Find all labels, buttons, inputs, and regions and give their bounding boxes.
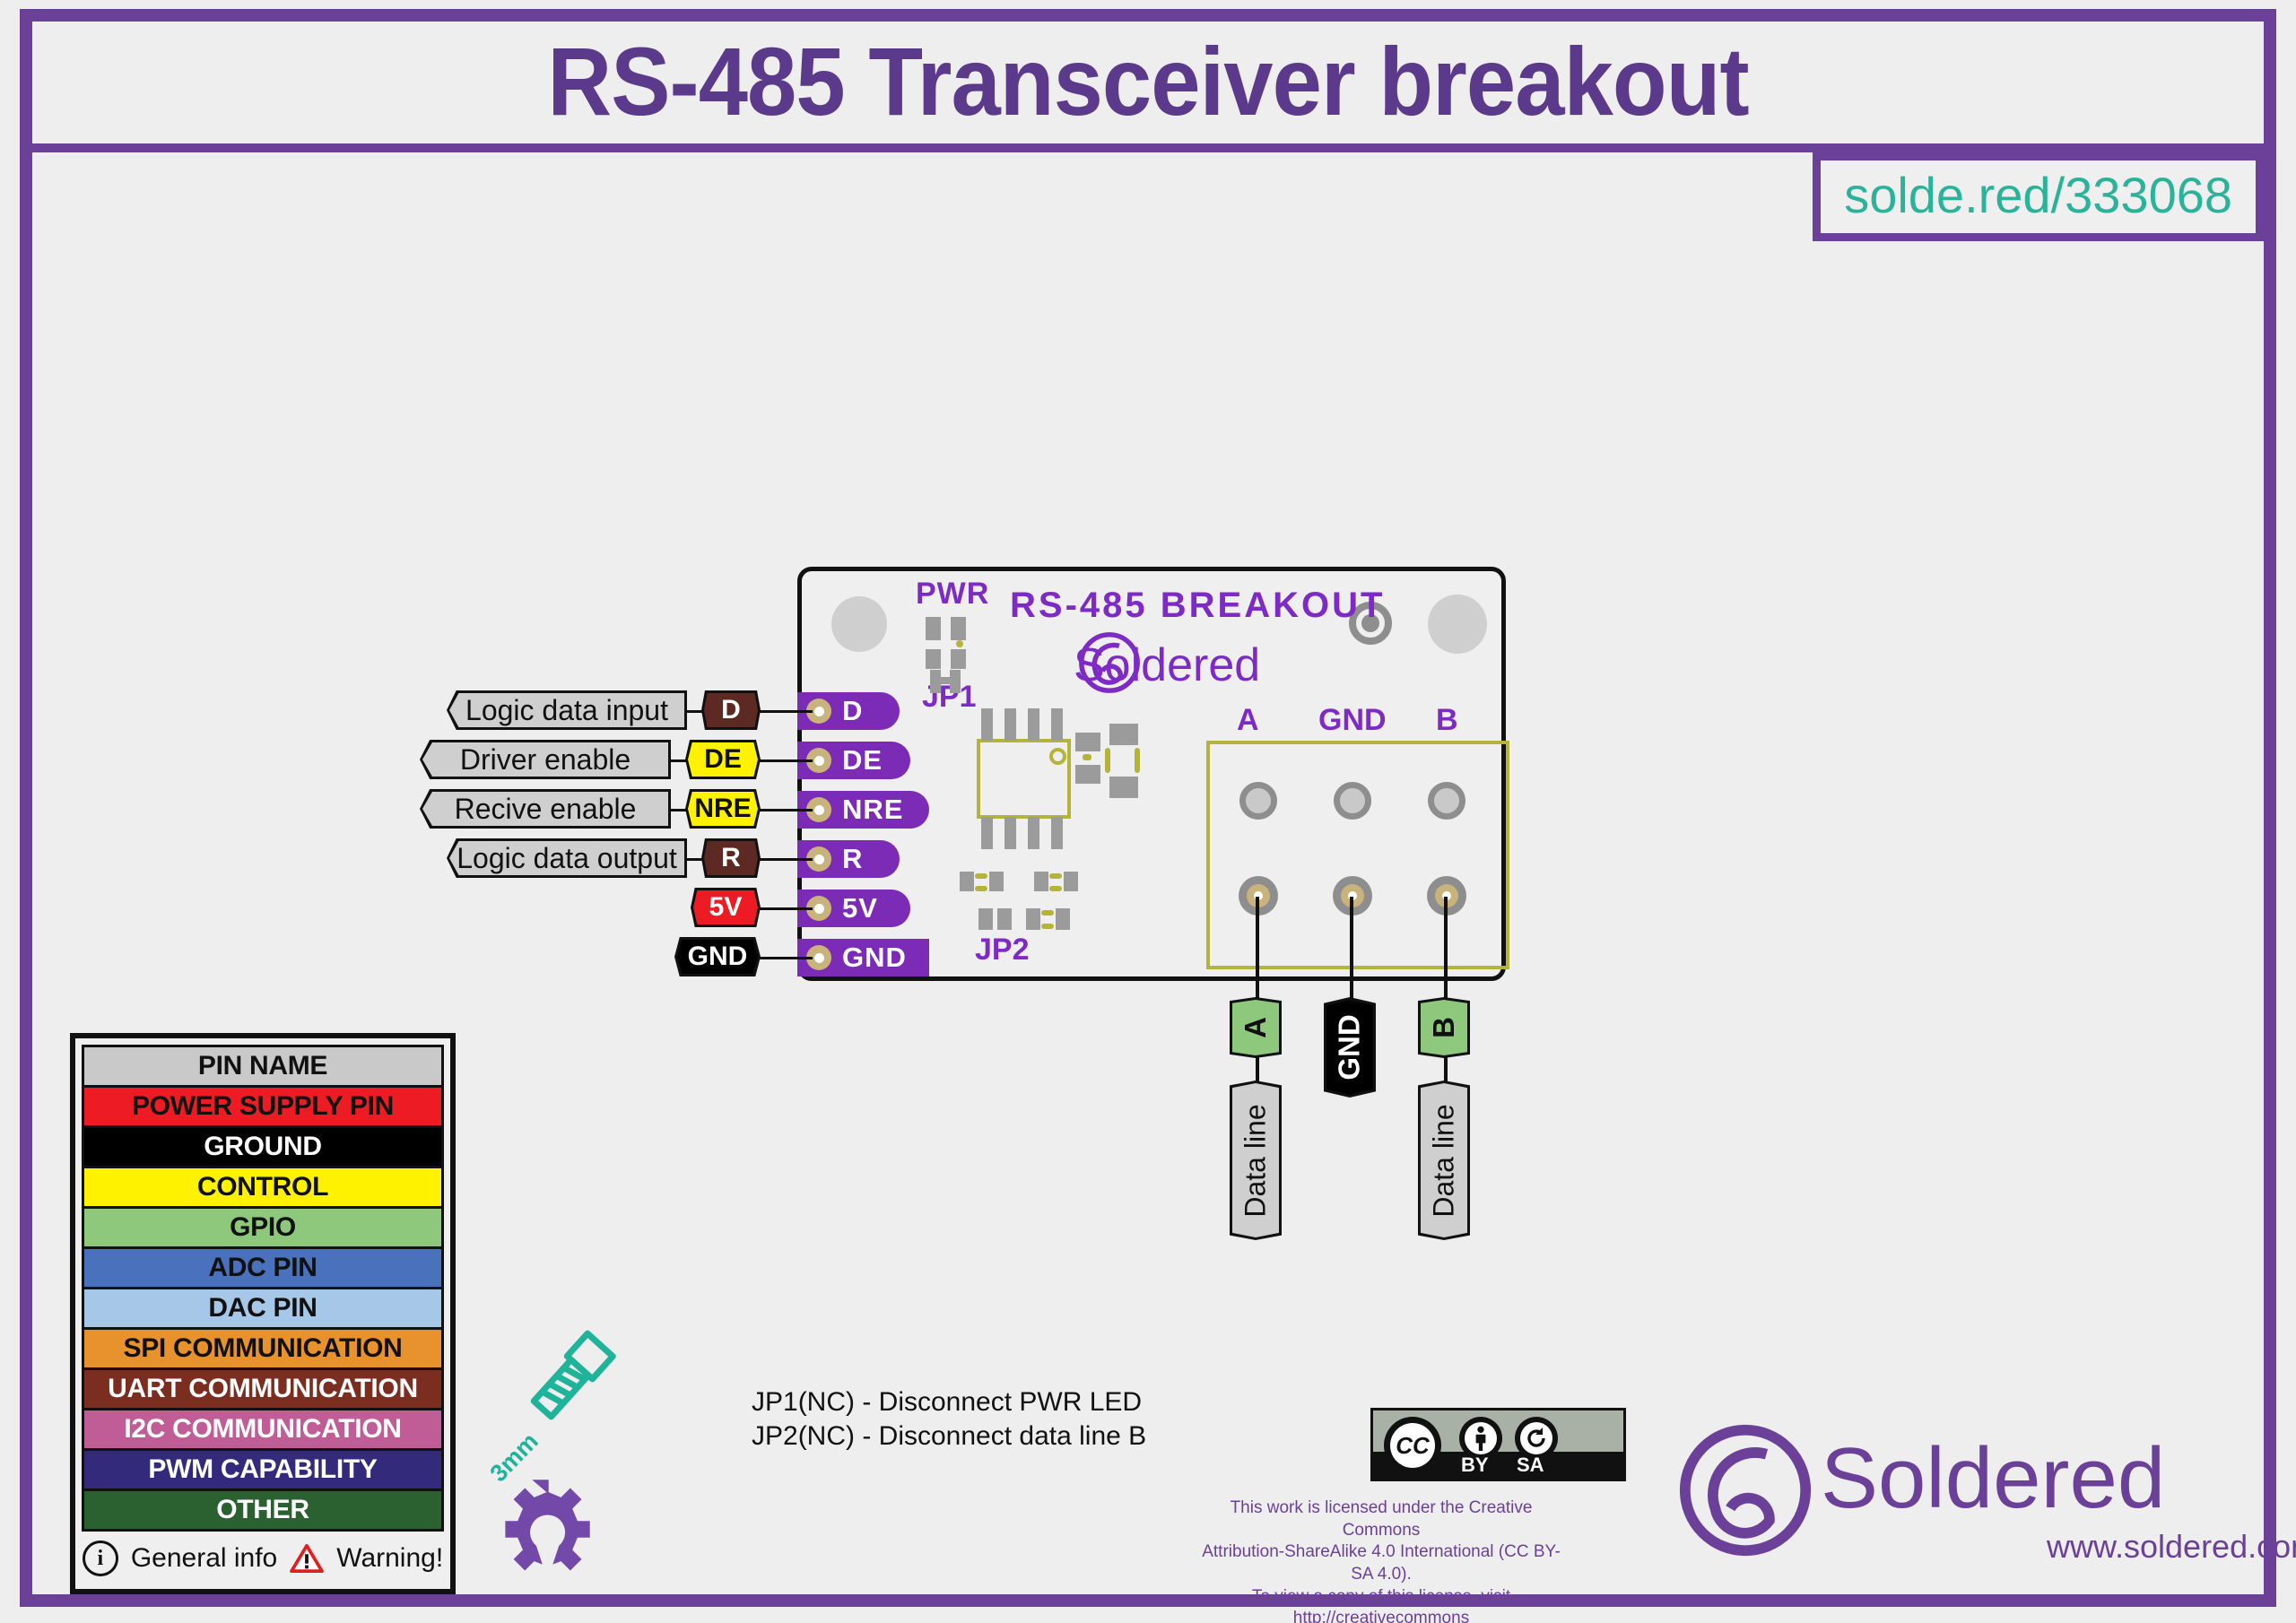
jp2-pad-left (978, 908, 993, 930)
legend-row: PIN NAME (82, 1045, 444, 1088)
vlead-b (1444, 897, 1448, 1002)
legend-label: DAC PIN (208, 1293, 317, 1324)
mounting-hole-right (1428, 595, 1487, 654)
legend-warning-label: Warning! (336, 1543, 443, 1574)
callout-tag-r: R (701, 838, 761, 878)
legend-label: ADC PIN (208, 1253, 317, 1283)
legend-row: UART COMMUNICATION (82, 1367, 444, 1410)
bottom-callout-tag-gnd: GND (1324, 997, 1376, 1098)
pin-label-5v: 5V (842, 892, 878, 924)
smd-pad-a2 (1075, 765, 1100, 784)
legend-label: UART COMMUNICATION (108, 1374, 418, 1404)
cc-icon: CC (1384, 1417, 1441, 1474)
callout-tag-gnd: GND (674, 937, 761, 976)
jp2-smd-2a (1034, 872, 1048, 891)
jp2-link-3b (1041, 924, 1054, 929)
legend-row: SPI COMMUNICATION (82, 1327, 444, 1370)
jp2-link-2a (1049, 873, 1062, 879)
pwr-pad-4 (951, 649, 966, 669)
bottom-callout-desc-a: Data line (1230, 1081, 1282, 1240)
silk-board-name: RS-485 BREAKOUT (1010, 586, 1385, 626)
legend-row: I2C COMMUNICATION (82, 1408, 444, 1451)
callout-tag-d: D (701, 690, 761, 730)
pin-label-d: D (842, 695, 863, 727)
terminal-screw-gnd (1334, 782, 1371, 820)
pwr-pad-2 (951, 617, 966, 640)
jp2-smd-3a (1026, 908, 1040, 930)
legend-footer: i General info Warning! (82, 1534, 444, 1583)
callout-tag-text: 5V (709, 892, 743, 923)
legend-label: GPIO (230, 1212, 296, 1243)
pin-type-legend: PIN NAME POWER SUPPLY PIN GROUND CONTROL… (70, 1033, 456, 1594)
lead-nre (759, 809, 813, 811)
board-pin-nre: NRE (797, 791, 929, 829)
footer-brand: Soldered (1821, 1429, 2165, 1528)
legend-label: OTHER (216, 1495, 309, 1525)
smd-pad-a1 (1075, 733, 1100, 751)
jp1-bridge (938, 677, 952, 684)
legend-row: POWER SUPPLY PIN (82, 1085, 444, 1128)
bottom-callout-desc-text: Data line (1428, 1104, 1461, 1217)
ic-pin-top-2 (1004, 708, 1016, 741)
jp2-link-1b (975, 886, 987, 891)
lead-de (759, 759, 813, 762)
ic-pin1-marker (1049, 748, 1066, 765)
pwr-pad-3 (926, 649, 941, 669)
bottom-callout-desc-b: Data line (1418, 1081, 1470, 1240)
silk-terminal-gnd: GND (1318, 703, 1387, 738)
callout-tag-text: D (721, 695, 741, 725)
legend-row: DAC PIN (82, 1287, 444, 1330)
callout-tag-text: NRE (694, 794, 751, 824)
soldered-footer-logo-icon (1670, 1415, 1821, 1566)
ic-pin-bot-4 (1051, 817, 1063, 849)
silk-pwr-label: PWR (916, 577, 989, 612)
pwr-led-marker (956, 640, 963, 647)
silk-terminal-b: B (1436, 703, 1458, 738)
bottom-callout-tag-text: B (1427, 1017, 1461, 1038)
bottom-callout-tag-b: B (1418, 997, 1470, 1058)
legend-row: CONTROL (82, 1166, 444, 1209)
board-pin-d: D (797, 692, 900, 730)
ic-pin-bot-3 (1028, 817, 1039, 849)
cc-license-badge: CC BY SA (1370, 1408, 1626, 1481)
legend-label: GROUND (204, 1132, 322, 1162)
jp2-pad-right (997, 908, 1012, 930)
cc-sa-label: SA (1517, 1454, 1544, 1477)
terminal-screw-a (1239, 782, 1277, 820)
legend-label: CONTROL (197, 1172, 328, 1202)
jp2-smd-1b (989, 872, 1004, 891)
ic-pin-top-1 (981, 708, 993, 741)
board-pin-r: R (797, 840, 900, 878)
board-pin-5v: 5V (797, 890, 910, 927)
open-source-gear-icon (489, 1478, 592, 1581)
screw-terminal-outline (1206, 741, 1509, 969)
license-line-2: Attribution-ShareAlike 4.0 International… (1193, 1541, 1570, 1585)
legend-row: PWM CAPABILITY (82, 1448, 444, 1491)
footer-url[interactable]: www.soldered.com (2047, 1528, 2296, 1566)
callout-desc-logic-data-input: Logic data input (447, 690, 687, 730)
jp2-link-1a (975, 873, 987, 879)
license-line-3: To view a copy of this license, visit ht… (1193, 1586, 1570, 1623)
note-jp2: JP2(NC) - Disconnect data line B (752, 1419, 1146, 1454)
pwr-pad-1 (926, 617, 941, 640)
jp2-smd-1a (960, 872, 974, 891)
smd-link-b2 (1135, 748, 1140, 773)
lead-d (759, 710, 813, 713)
callout-desc-driver-enable: Driver enable (420, 740, 671, 779)
smd-link-a (1083, 754, 1091, 760)
silk-jp2-label: JP2 (975, 933, 1030, 968)
ic-pin-bot-2 (1004, 817, 1016, 849)
callout-desc-logic-data-output: Logic data output (447, 838, 687, 878)
callout-desc-text: Logic data output (457, 842, 677, 875)
legend-label: PIN NAME (198, 1051, 327, 1081)
legend-label: I2C COMMUNICATION (124, 1414, 401, 1445)
screw-icon (518, 1327, 617, 1435)
vlead-a (1256, 897, 1259, 1002)
board-pin-gnd: GND (797, 939, 929, 976)
callout-desc-recive-enable: Recive enable (420, 789, 671, 829)
pin-label-gnd: GND (842, 942, 907, 974)
title-divider (20, 143, 2276, 152)
info-icon: i (83, 1541, 118, 1576)
bottom-callout-desc-text: Data line (1239, 1104, 1273, 1217)
license-text: This work is licensed under the Creative… (1193, 1497, 1570, 1623)
callout-desc-text: Recive enable (455, 793, 637, 826)
license-line-1: This work is licensed under the Creative… (1193, 1497, 1570, 1541)
cc-by-label: BY (1461, 1454, 1489, 1477)
pinout-diagram-page: RS-485 Transceiver breakout solde.red/33… (0, 0, 2296, 1623)
callout-desc-text: Logic data input (465, 694, 668, 727)
callout-tag-text: GND (688, 942, 748, 972)
ic-pin-top-4 (1051, 708, 1063, 741)
legend-info-label: General info (131, 1543, 277, 1574)
board-pin-de: DE (797, 742, 910, 779)
callout-tag-de: DE (685, 740, 761, 779)
legend-label: PWM CAPABILITY (148, 1454, 377, 1485)
jp2-link-3a (1041, 910, 1054, 916)
lead-5v (759, 907, 813, 910)
product-url-badge[interactable]: solde.red/333068 (1813, 152, 2264, 241)
ic-pin-bot-1 (981, 817, 993, 849)
vlead-gnd (1350, 897, 1353, 1002)
smd-pad-b1 (1109, 724, 1138, 745)
silk-terminal-a: A (1237, 703, 1259, 738)
bottom-callout-tag-text: A (1239, 1017, 1273, 1038)
jp2-smd-3b (1056, 908, 1070, 930)
lead-r (759, 858, 813, 861)
legend-label: SPI COMMUNICATION (124, 1333, 403, 1364)
warning-icon (290, 1543, 324, 1574)
jp2-smd-2b (1064, 872, 1078, 891)
bottom-callout-tag-a: A (1230, 997, 1282, 1058)
pin-label-de: DE (842, 744, 883, 777)
pin-label-nre: NRE (842, 794, 903, 826)
ic-pin-top-3 (1028, 708, 1039, 741)
callout-desc-text: Driver enable (460, 743, 631, 777)
pin-label-r: R (842, 843, 863, 875)
jp2-link-2b (1049, 886, 1062, 891)
callout-tag-nre: NRE (685, 789, 761, 829)
bottom-callout-tag-text: GND (1333, 1014, 1367, 1080)
legend-row: GPIO (82, 1206, 444, 1249)
lead-gnd (759, 957, 813, 959)
soldered-logo-icon (1074, 628, 1144, 698)
jumper-notes: JP1(NC) - Disconnect PWR LED JP2(NC) - D… (752, 1385, 1146, 1453)
smd-pad-b2 (1109, 777, 1138, 798)
legend-row: OTHER (82, 1488, 444, 1532)
callout-tag-text: R (721, 843, 741, 873)
legend-label: POWER SUPPLY PIN (132, 1091, 394, 1122)
callout-tag-text: DE (704, 744, 742, 775)
page-title: RS-485 Transceiver breakout (110, 25, 2187, 137)
smd-link-b1 (1105, 748, 1110, 773)
terminal-screw-b (1428, 782, 1465, 820)
legend-row: ADC PIN (82, 1246, 444, 1289)
note-jp1: JP1(NC) - Disconnect PWR LED (752, 1385, 1146, 1419)
legend-row: GROUND (82, 1125, 444, 1168)
mounting-hole-left (831, 596, 887, 652)
callout-tag-5v: 5V (691, 888, 761, 927)
